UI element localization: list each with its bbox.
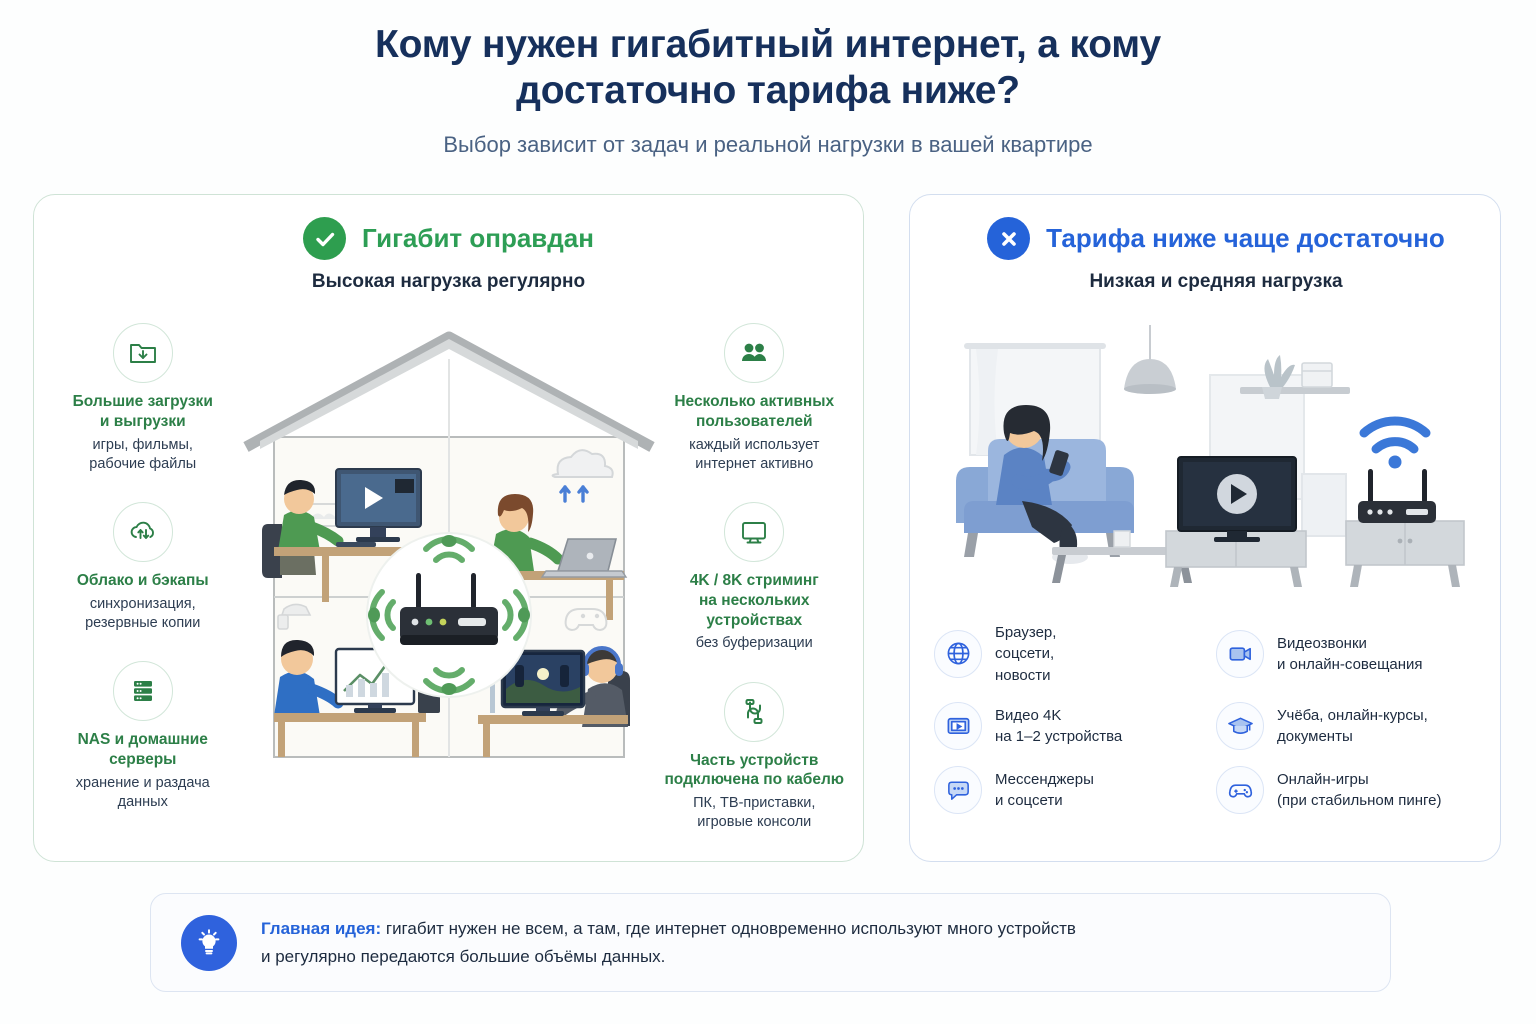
label-line2: и соцсети xyxy=(995,790,1094,811)
feature-desc-line2: рабочие файлы xyxy=(46,455,240,474)
chat-bubble-icon xyxy=(934,766,982,814)
feature-title: Большие загрузки и выгрузки xyxy=(46,392,240,432)
feature-title-line2: подключена по кабелю xyxy=(658,770,852,790)
feature-title-line1: Часть устройств xyxy=(658,751,852,771)
green-panel-header: Гигабит оправдан xyxy=(34,195,863,260)
blue-panel-items: Браузер, соцсети, новости Видеозвонки xyxy=(910,604,1500,814)
label-line1: Видео 4K xyxy=(995,705,1122,726)
key-idea-text: Главная идея: гигабит нужен не всем, а т… xyxy=(261,915,1076,970)
label-line2: и онлайн-совещания xyxy=(1277,654,1423,675)
label-line2: соцсети, xyxy=(995,643,1056,664)
list-item: Видео 4K на 1–2 устройства xyxy=(934,702,1198,750)
feature-multiple-users: Несколько активных пользователей каждый … xyxy=(658,323,852,474)
lightbulb-icon xyxy=(181,915,237,971)
key-idea-line2: и регулярно передаются большие объёмы да… xyxy=(261,943,1076,971)
video-play-icon xyxy=(934,702,982,750)
green-panel-title: Гигабит оправдан xyxy=(362,223,594,254)
list-item: Онлайн-игры (при стабильном пинге) xyxy=(1216,766,1480,814)
feature-title-line2: серверы xyxy=(46,750,240,770)
feature-title: 4K / 8K стриминг на нескольких устройств… xyxy=(658,571,852,630)
list-item-label: Онлайн-игры (при стабильном пинге) xyxy=(1277,769,1441,812)
feature-title: Облако и бэкапы xyxy=(46,571,240,591)
label-line1: Браузер, xyxy=(995,622,1056,643)
folder-download-icon xyxy=(113,323,173,383)
label-line1: Мессенджеры xyxy=(995,769,1094,790)
list-item: Видеозвонки и онлайн-совещания xyxy=(1216,622,1480,686)
feature-title: Часть устройств подключена по кабелю xyxy=(658,751,852,791)
feature-nas-home-servers: NAS и домашние серверы хранение и раздач… xyxy=(46,661,240,812)
panels-row: Гигабит оправдан Высокая нагрузка регуля… xyxy=(33,194,1503,862)
key-idea-line1-rest: гигабит нужен не всем, а там, где интерн… xyxy=(381,919,1076,938)
label-line1: Видеозвонки xyxy=(1277,633,1423,654)
feature-title-line1: Облако и бэкапы xyxy=(46,571,240,591)
page-title-line1: Кому нужен гигабитный интернет, а кому xyxy=(0,22,1536,68)
header: Кому нужен гигабитный интернет, а кому д… xyxy=(0,0,1536,158)
label-line2: (при стабильном пинге) xyxy=(1277,790,1441,811)
page-title-line2: достаточно тарифа ниже? xyxy=(0,68,1536,114)
feature-desc-line1: игры, фильмы, xyxy=(46,436,240,455)
blue-panel-title: Тарифа ниже чаще достаточно xyxy=(1046,223,1445,254)
list-item-label: Видеозвонки и онлайн-совещания xyxy=(1277,633,1423,676)
infographic-page: Кому нужен гигабитный интернет, а кому д… xyxy=(0,0,1536,1024)
green-panel-body: Большие загрузки и выгрузки игры, фильмы… xyxy=(34,293,863,832)
x-circle-icon xyxy=(987,217,1030,260)
feature-4k-8k-streaming: 4K / 8K стриминг на нескольких устройств… xyxy=(658,502,852,654)
key-idea-lead: Главная идея: xyxy=(261,919,381,938)
blue-panel-subtitle: Низкая и средняя нагрузка xyxy=(910,271,1500,293)
panel-gigabit-justified: Гигабит оправдан Высокая нагрузка регуля… xyxy=(33,194,864,862)
feature-desc: игры, фильмы, рабочие файлы xyxy=(46,436,240,474)
list-item-label: Браузер, соцсети, новости xyxy=(995,622,1056,686)
label-line1: Онлайн-игры xyxy=(1277,769,1441,790)
label-line2: документы xyxy=(1277,726,1428,747)
feature-desc-line2: интернет активно xyxy=(658,455,852,474)
graduation-cap-icon xyxy=(1216,702,1264,750)
feature-desc: хранение и раздача данных xyxy=(46,774,240,812)
list-item-label: Видео 4K на 1–2 устройства xyxy=(995,705,1122,748)
page-title: Кому нужен гигабитный интернет, а кому д… xyxy=(0,22,1536,114)
feature-desc: ПК, ТВ-приставки, игровые консоли xyxy=(658,794,852,832)
feature-desc: без буферизации xyxy=(658,634,852,653)
feature-title-line2: на нескольких xyxy=(658,591,852,611)
list-item: Учёба, онлайн-курсы, документы xyxy=(1216,702,1480,750)
list-item-label: Учёба, онлайн-курсы, документы xyxy=(1277,705,1428,748)
feature-desc: каждый использует интернет активно xyxy=(658,436,852,474)
green-panel-subtitle: Высокая нагрузка регулярно xyxy=(34,271,863,293)
feature-desc: синхронизация, резервные копии xyxy=(46,595,240,633)
label-line3: новости xyxy=(995,665,1056,686)
monitor-icon xyxy=(724,502,784,562)
list-item: Браузер, соцсети, новости xyxy=(934,622,1198,686)
key-idea-line1: Главная идея: гигабит нужен не всем, а т… xyxy=(261,915,1076,943)
feature-title-line1: Несколько активных xyxy=(658,392,852,412)
ethernet-cable-icon xyxy=(724,682,784,742)
label-line2: на 1–2 устройства xyxy=(995,726,1122,747)
feature-cloud-backups: Облако и бэкапы синхронизация, резервные… xyxy=(46,502,240,633)
feature-desc-line1: синхронизация, xyxy=(46,595,240,614)
feature-title-line1: NAS и домашние xyxy=(46,730,240,750)
cloud-sync-icon xyxy=(113,502,173,562)
feature-desc-line2: резервные копии xyxy=(46,614,240,633)
green-left-features: Большие загрузки и выгрузки игры, фильмы… xyxy=(46,315,240,832)
feature-desc-line2: данных xyxy=(46,793,240,812)
house-illustration xyxy=(240,315,658,832)
video-camera-icon xyxy=(1216,630,1264,678)
feature-wired-devices: Часть устройств подключена по кабелю ПК,… xyxy=(658,682,852,833)
feature-title-line2: пользователей xyxy=(658,412,852,432)
users-group-icon xyxy=(724,323,784,383)
feature-title: Несколько активных пользователей xyxy=(658,392,852,432)
feature-title-line1: 4K / 8K стриминг xyxy=(658,571,852,591)
list-item: Мессенджеры и соцсети xyxy=(934,766,1198,814)
feature-large-downloads: Большие загрузки и выгрузки игры, фильмы… xyxy=(46,323,240,474)
page-subtitle: Выбор зависит от задач и реальной нагруз… xyxy=(0,132,1536,158)
feature-title-line2: и выгрузки xyxy=(46,412,240,432)
feature-title-line1: Большие загрузки xyxy=(46,392,240,412)
feature-title: NAS и домашние серверы xyxy=(46,730,240,770)
feature-desc-line1: каждый использует xyxy=(658,436,852,455)
list-item-label: Мессенджеры и соцсети xyxy=(995,769,1094,812)
living-room-illustration xyxy=(910,293,1500,604)
panel-lower-tariff-enough: Тарифа ниже чаще достаточно Низкая и сре… xyxy=(909,194,1501,862)
blue-panel-header: Тарифа ниже чаще достаточно xyxy=(910,195,1500,260)
green-right-features: Несколько активных пользователей каждый … xyxy=(658,315,852,832)
feature-desc-line2: игровые консоли xyxy=(658,813,852,832)
gamepad-icon xyxy=(1216,766,1264,814)
feature-desc-line1: ПК, ТВ-приставки, xyxy=(658,794,852,813)
feature-desc-line1: без буферизации xyxy=(658,634,852,653)
feature-desc-line1: хранение и раздача xyxy=(46,774,240,793)
key-idea-banner: Главная идея: гигабит нужен не всем, а т… xyxy=(150,893,1391,992)
feature-title-line3: устройствах xyxy=(658,611,852,631)
check-circle-icon xyxy=(303,217,346,260)
globe-icon xyxy=(934,630,982,678)
server-stack-icon xyxy=(113,661,173,721)
label-line1: Учёба, онлайн-курсы, xyxy=(1277,705,1428,726)
